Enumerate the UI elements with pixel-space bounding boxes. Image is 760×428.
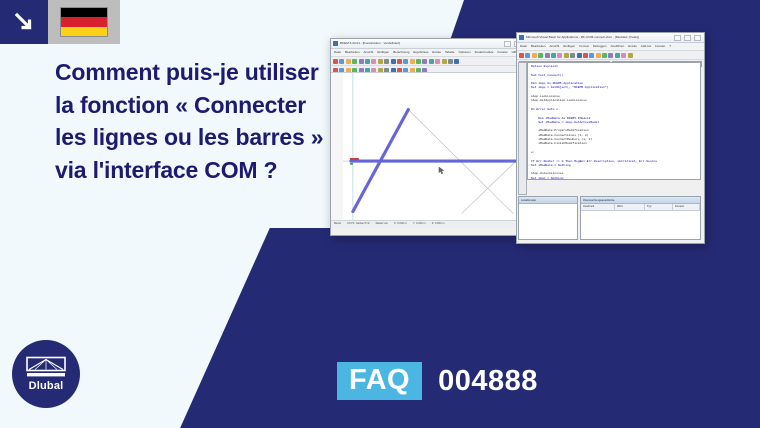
vba-menu-item[interactable]: Bearbeiten: [531, 45, 546, 48]
vba-menu-item[interactable]: ?: [669, 45, 671, 48]
rfem-menu-item[interactable]: Datei: [334, 51, 341, 54]
top-left-badges: [0, 0, 120, 44]
rfem-status-item: Y: 0.000 m: [413, 223, 426, 226]
vba-menu-item[interactable]: Add-Ins: [641, 45, 651, 48]
rfem-3d-viewport[interactable]: [343, 73, 524, 228]
render-icon[interactable]: [403, 59, 408, 64]
rfem-menu-item[interactable]: Optionen: [458, 51, 470, 54]
minimize-icon[interactable]: [504, 41, 511, 47]
flag-stripe-black: [61, 8, 107, 17]
redo-icon[interactable]: [570, 53, 575, 58]
arrow-badge[interactable]: [0, 0, 48, 44]
snap-icon[interactable]: [416, 59, 421, 64]
object-browser-icon[interactable]: [615, 53, 620, 58]
watch-column-header: Typ: [645, 204, 673, 210]
properties-icon[interactable]: [608, 53, 613, 58]
vba-menu-item[interactable]: Extras: [628, 45, 637, 48]
pause-icon[interactable]: [583, 53, 588, 58]
vba-editor-window[interactable]: Microsoft Visual Basic for Applications …: [516, 32, 705, 244]
watch-column-header: Kontext: [673, 204, 700, 210]
rfem-menu-item[interactable]: Bearbeiten: [345, 51, 360, 54]
rfem-workspace[interactable]: Bereit CSYS: Global XYZ Raster ein X: 0.…: [331, 72, 534, 228]
vba-app-icon: [519, 35, 524, 40]
help-icon[interactable]: [628, 53, 633, 58]
rfem-menu-item[interactable]: Tabelle: [445, 51, 455, 54]
vba-titlebar[interactable]: Microsoft Visual Basic for Applications …: [517, 33, 704, 43]
vba-toolbar[interactable]: [517, 51, 704, 60]
results-icon[interactable]: [429, 59, 434, 64]
paste-icon[interactable]: [551, 53, 556, 58]
rfem-status-item: CSYS: Global XYZ: [347, 223, 370, 226]
rfem-menu-item[interactable]: Ansicht: [364, 51, 374, 54]
rfem-menu-item[interactable]: Einfügen: [377, 51, 389, 54]
run-icon[interactable]: [577, 53, 582, 58]
code-line: Set iApp = Nothing: [531, 177, 697, 180]
rfem-status-item: X: 0.000 m: [394, 223, 407, 226]
language-flag-badge[interactable]: [48, 0, 120, 44]
faq-slide: Comment puis-je utiliser la fonction « C…: [0, 0, 760, 428]
flag-stripe-red: [61, 17, 107, 26]
rfem-status-item: Z: 0.000 m: [432, 223, 445, 226]
rfem-app-icon: [333, 41, 338, 46]
undo-icon[interactable]: [359, 59, 364, 64]
watch-column-header: Ausdruck: [581, 204, 615, 210]
rfem-window[interactable]: RFEM 5.24.01 - [Konstruktion - Vordefini…: [330, 38, 535, 236]
vba-menu-item[interactable]: Datei: [520, 45, 527, 48]
view-icon[interactable]: [435, 59, 440, 64]
vba-lower-panes: Lokalfenster Überwachungsausdrücke Ausdr…: [518, 196, 701, 240]
vba-menubar[interactable]: Datei Bearbeiten Ansicht Einfügen Format…: [517, 43, 704, 51]
copy-icon[interactable]: [378, 59, 383, 64]
rfem-menu-item[interactable]: Fenster: [497, 51, 507, 54]
rotate-icon[interactable]: [442, 59, 447, 64]
grid-icon[interactable]: [410, 59, 415, 64]
redo-icon[interactable]: [365, 59, 370, 64]
rfem-status-item: Bereit: [334, 223, 341, 226]
maximize-icon[interactable]: [684, 35, 691, 41]
rfem-titlebar[interactable]: RFEM 5.24.01 - [Konstruktion - Vordefini…: [331, 39, 534, 49]
vba-locals-pane[interactable]: Lokalfenster: [518, 196, 578, 240]
calculate-icon[interactable]: [422, 59, 427, 64]
vba-code-editor[interactable]: Option Explicit Sub test_connect() Dim i…: [527, 62, 701, 180]
zoom-in-icon[interactable]: [391, 59, 396, 64]
flag-stripe-gold: [61, 27, 107, 36]
rfem-menu-item[interactable]: Berechnung: [393, 51, 409, 54]
faq-number: 004888: [438, 365, 538, 398]
cut-icon[interactable]: [538, 53, 543, 58]
save-icon[interactable]: [532, 53, 537, 58]
insert-icon[interactable]: [525, 53, 530, 58]
copy-icon[interactable]: [545, 53, 550, 58]
rfem-menu-item[interactable]: Zusatzmodule: [475, 51, 494, 54]
vba-menu-item[interactable]: Einfügen: [563, 45, 575, 48]
zoom-out-icon[interactable]: [397, 59, 402, 64]
vba-watch-pane[interactable]: Überwachungsausdrücke Ausdruck Wert Typ …: [580, 196, 701, 240]
pan-icon[interactable]: [448, 59, 453, 64]
dlubal-logo[interactable]: Dlubal: [12, 340, 80, 408]
logo-text: Dlubal: [29, 380, 64, 392]
rfem-toolbar-primary[interactable]: [331, 57, 534, 66]
vba-menu-item[interactable]: Ansicht: [550, 45, 560, 48]
save-icon[interactable]: [346, 59, 351, 64]
close-icon[interactable]: [694, 35, 701, 41]
software-screenshot: RFEM 5.24.01 - [Konstruktion - Vordefini…: [330, 32, 705, 247]
german-flag-icon: [60, 7, 108, 37]
undo-icon[interactable]: [564, 53, 569, 58]
faq-tag: FAQ: [337, 362, 422, 400]
select-icon[interactable]: [454, 59, 459, 64]
faq-footer: FAQ 004888: [337, 362, 538, 400]
new-icon[interactable]: [333, 59, 338, 64]
find-icon[interactable]: [557, 53, 562, 58]
vba-menu-item[interactable]: Debuggen: [593, 45, 607, 48]
page-title: Comment puis-je utiliser la fonction « C…: [55, 56, 325, 187]
open-icon[interactable]: [339, 59, 344, 64]
rfem-menu-item[interactable]: Ergebnisse: [413, 51, 428, 54]
vba-window-controls[interactable]: [674, 35, 702, 41]
watch-column-header: Wert: [615, 204, 645, 210]
frame-structure-icon: [26, 356, 66, 378]
stop-icon[interactable]: [589, 53, 594, 58]
watch-pane-columns: Ausdruck Wert Typ Kontext: [581, 204, 700, 211]
print-icon[interactable]: [352, 59, 357, 64]
rfem-statusbar: Bereit CSYS: Global XYZ Raster ein X: 0.…: [331, 220, 534, 228]
toolbox-icon[interactable]: [621, 53, 626, 58]
view-icon[interactable]: [519, 53, 524, 58]
project-explorer-icon[interactable]: [602, 53, 607, 58]
rfem-menubar[interactable]: Datei Bearbeiten Ansicht Einfügen Berech…: [331, 49, 534, 57]
vba-project-explorer[interactable]: [518, 62, 527, 195]
vba-menu-item[interactable]: Format: [579, 45, 589, 48]
design-icon[interactable]: [596, 53, 601, 58]
rfem-title-text: RFEM 5.24.01 - [Konstruktion - Vordefini…: [340, 42, 502, 45]
minimize-icon[interactable]: [674, 35, 681, 41]
locals-pane-title: Lokalfenster: [519, 197, 577, 204]
paste-icon[interactable]: [384, 59, 389, 64]
cut-icon[interactable]: [371, 59, 376, 64]
arrow-down-right-icon: [12, 10, 36, 34]
vba-menu-item[interactable]: Ausführen: [611, 45, 625, 48]
rfem-model-graphics: [343, 73, 524, 228]
vba-menu-item[interactable]: Fenster: [655, 45, 665, 48]
rfem-status-item: Raster ein: [376, 223, 388, 226]
watch-pane-title: Überwachungsausdrücke: [581, 197, 700, 204]
rfem-menu-item[interactable]: Extras: [432, 51, 441, 54]
vba-title-text: Microsoft Visual Basic for Applications …: [526, 36, 672, 39]
